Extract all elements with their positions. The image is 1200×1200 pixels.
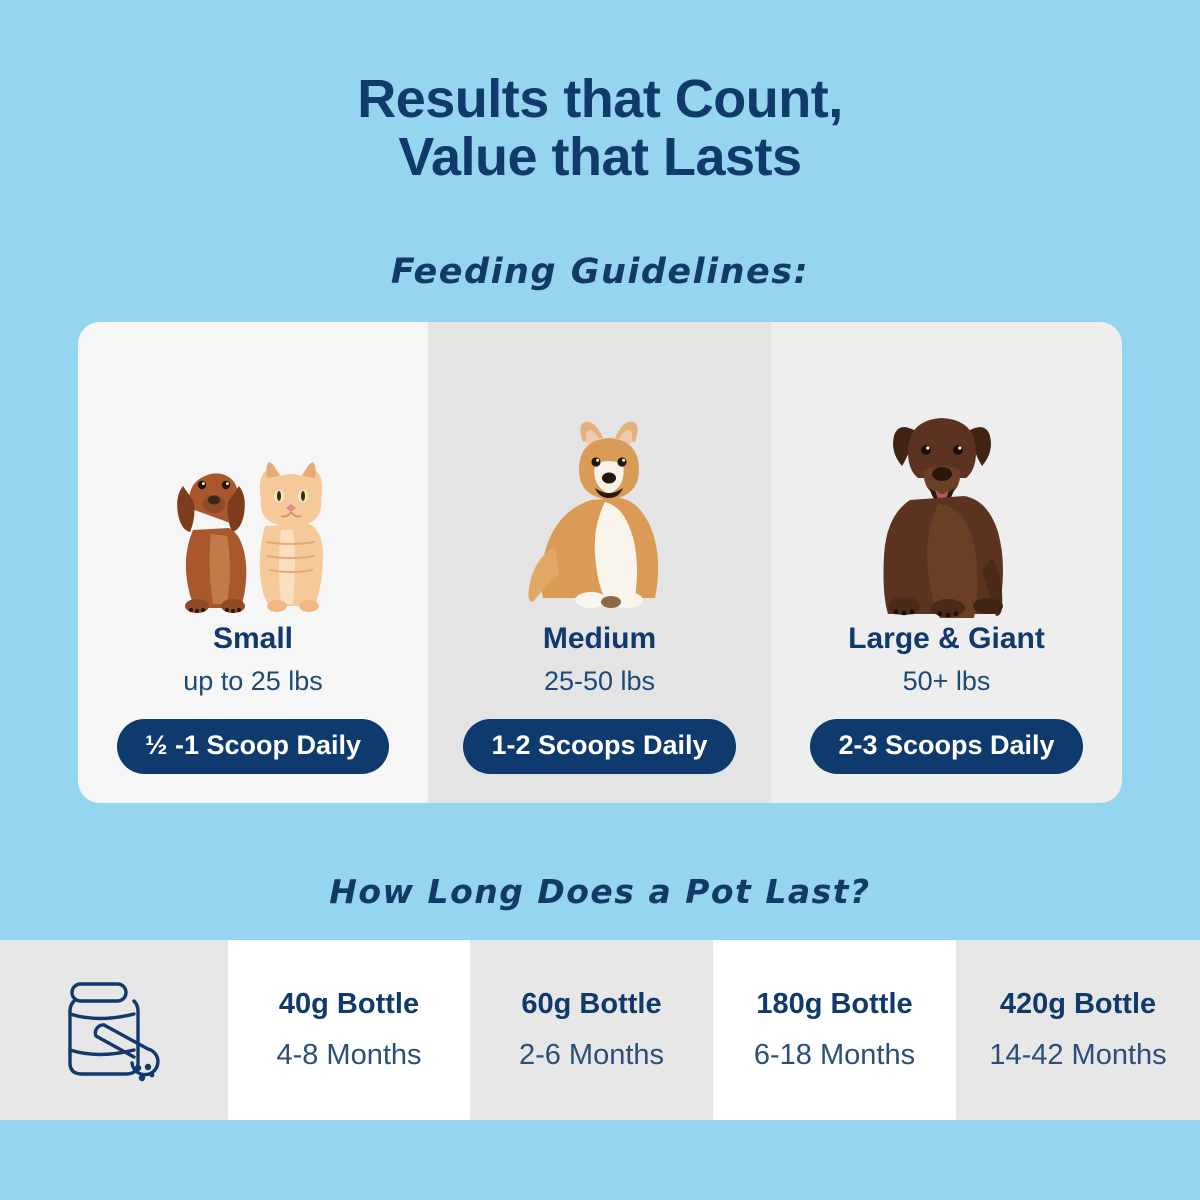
pot-duration-heading: How Long Does a Pot Last? <box>0 872 1200 911</box>
feeding-card-large: Large & Giant 50+ lbs 2-3 Scoops Daily <box>771 322 1122 803</box>
bottle-size-60g: 60g Bottle <box>521 990 661 1019</box>
bottle-cell-60g: 60g Bottle 2-6 Months <box>470 940 713 1120</box>
feeding-card-small: Small up to 25 lbs ½ -1 Scoop Daily <box>78 322 428 803</box>
dachshund-and-kitten-photo <box>78 322 428 622</box>
bottle-duration-60g: 2-6 Months <box>519 1041 664 1070</box>
corgi-photo <box>428 322 771 622</box>
feeding-guidelines-heading: Feeding Guidelines: <box>0 252 1200 292</box>
jar-with-scoop-icon <box>54 974 174 1086</box>
size-name-large: Large & Giant <box>848 624 1045 654</box>
size-weight-medium: 25-50 lbs <box>544 668 655 695</box>
feeding-card-medium: Medium 25-50 lbs 1-2 Scoops Daily <box>428 322 771 803</box>
size-name-medium: Medium <box>543 624 656 654</box>
size-weight-small: up to 25 lbs <box>183 668 323 695</box>
size-weight-large: 50+ lbs <box>903 668 991 695</box>
bottle-duration-strip: 40g Bottle 4-8 Months 60g Bottle 2-6 Mon… <box>0 940 1200 1120</box>
bottle-cell-40g: 40g Bottle 4-8 Months <box>228 940 470 1120</box>
feeding-guidelines-panel: Small up to 25 lbs ½ -1 Scoop Daily <box>78 322 1122 803</box>
blue-band <box>0 1120 1200 1168</box>
page-title-line-1: Results that Count, <box>357 69 843 129</box>
bottle-duration-180g: 6-18 Months <box>754 1041 915 1070</box>
bottle-cell-420g: 420g Bottle 14-42 Months <box>956 940 1200 1120</box>
bottle-cell-180g: 180g Bottle 6-18 Months <box>713 940 956 1120</box>
dose-pill-large[interactable]: 2-3 Scoops Daily <box>810 719 1082 774</box>
dose-pill-small[interactable]: ½ -1 Scoop Daily <box>117 719 389 774</box>
bottle-size-180g: 180g Bottle <box>756 990 912 1019</box>
chocolate-labrador-photo <box>771 322 1122 622</box>
size-name-small: Small <box>213 624 293 654</box>
page-title-line-2: Value that Lasts <box>0 128 1200 186</box>
bottle-duration-420g: 14-42 Months <box>989 1041 1166 1070</box>
jar-icon-cell <box>0 940 228 1120</box>
yellow-accent-band <box>0 1168 1200 1200</box>
dose-pill-medium[interactable]: 1-2 Scoops Daily <box>463 719 735 774</box>
bottle-size-40g: 40g Bottle <box>279 990 419 1019</box>
page-title: Results that Count, Value that Lasts <box>0 70 1200 187</box>
bottle-size-420g: 420g Bottle <box>1000 990 1156 1019</box>
bottle-duration-40g: 4-8 Months <box>276 1041 421 1070</box>
